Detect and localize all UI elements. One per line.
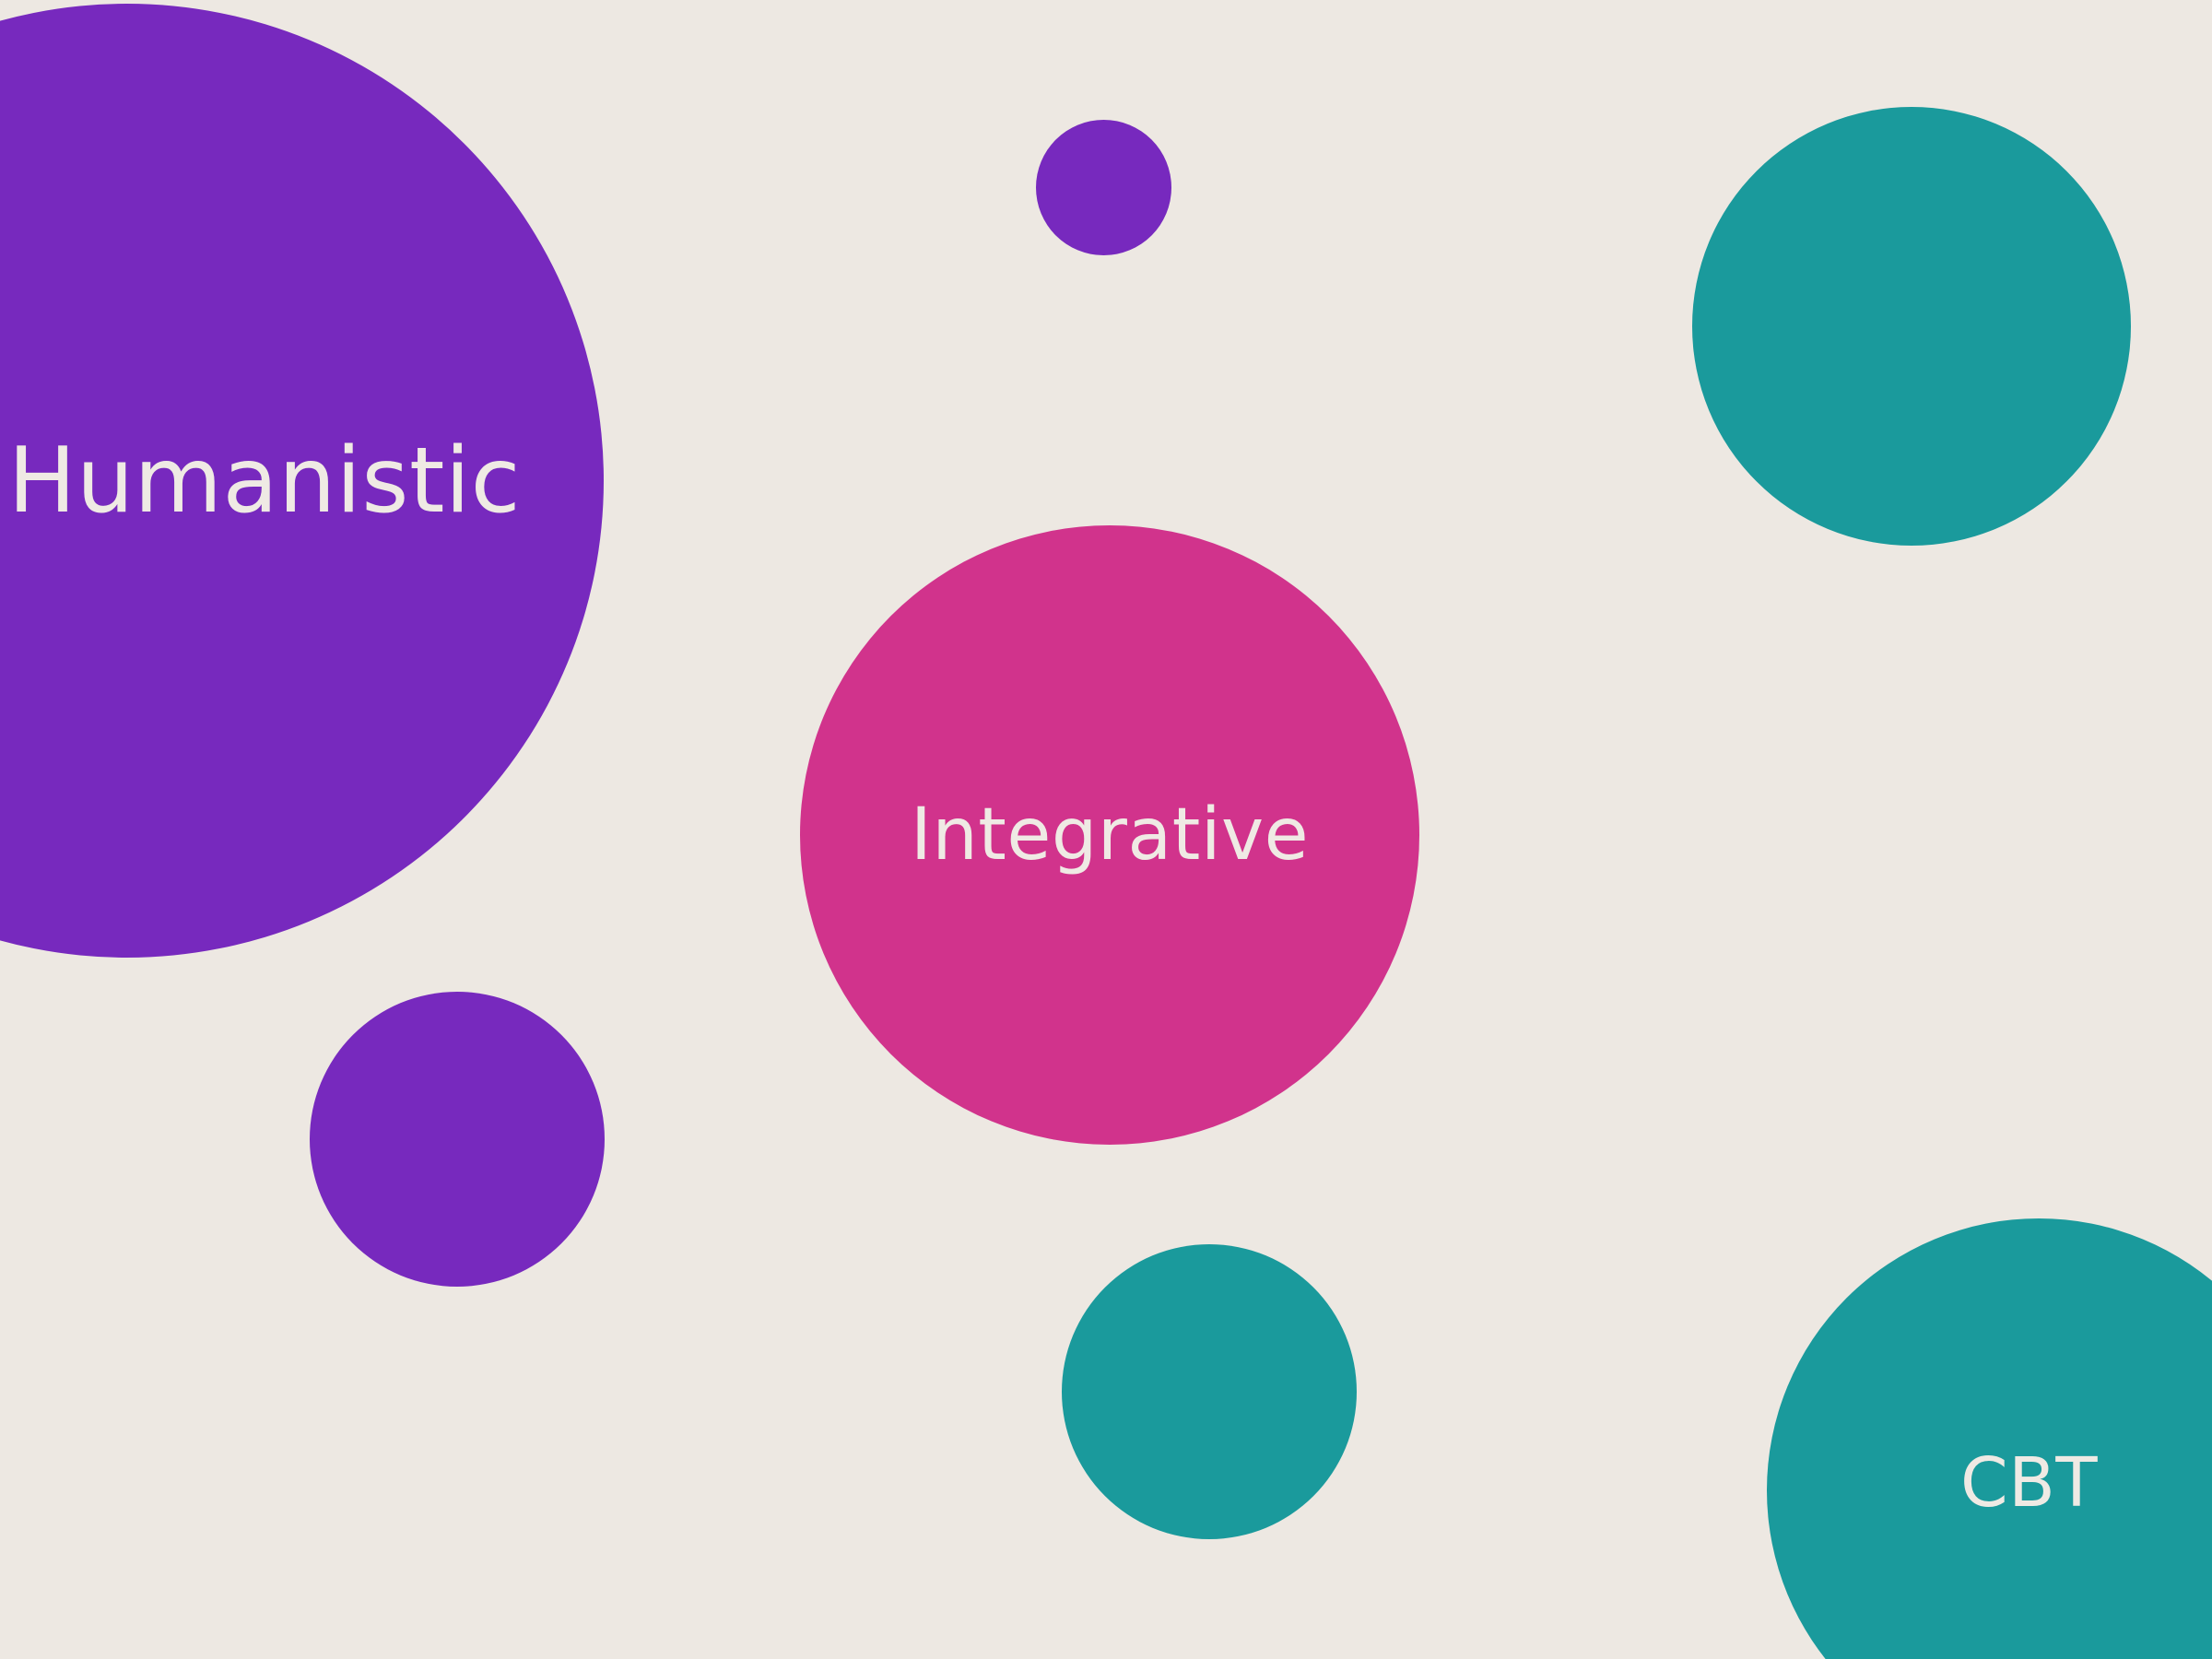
bubble-purple-mid-left[interactable] — [310, 992, 605, 1287]
bubble-teal-bottom-mid[interactable] — [1062, 1244, 1357, 1539]
bubble-label-cbt: CBT — [1960, 1449, 2098, 1517]
bubble-label-integrative: Integrative — [911, 799, 1309, 871]
bubble-chart-canvas: Humanistic Integrative CBT — [0, 0, 2212, 1659]
bubble-humanistic[interactable]: Humanistic — [0, 4, 604, 958]
bubble-cbt[interactable]: CBT — [1767, 1218, 2212, 1659]
bubble-integrative[interactable]: Integrative — [800, 525, 1419, 1145]
bubble-teal-top-right[interactable] — [1692, 107, 2131, 546]
bubble-label-humanistic: Humanistic — [8, 436, 521, 526]
bubble-purple-small-top[interactable] — [1036, 120, 1171, 255]
